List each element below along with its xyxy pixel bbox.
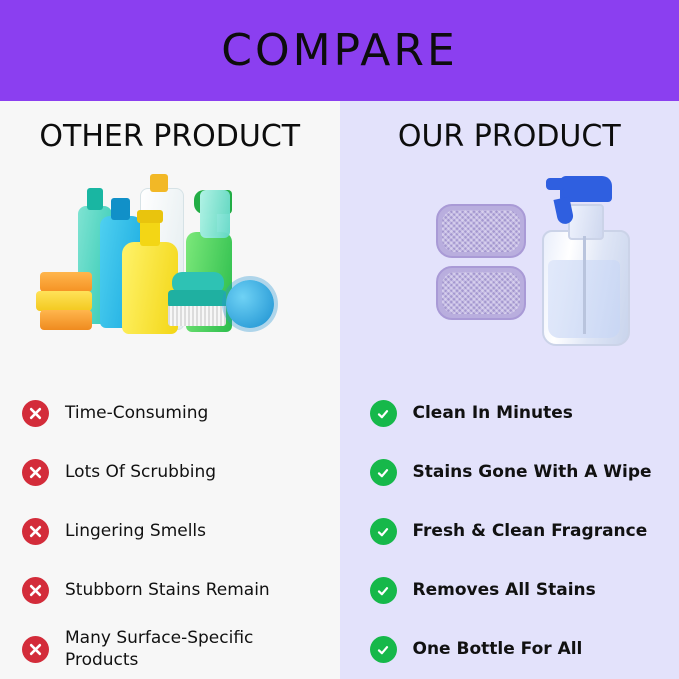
cleaning-pad-bottom [436,266,526,320]
spray-bottle-tube [583,236,586,334]
list-item: Clean In Minutes [370,384,679,443]
bottle-white-jug-cap [150,174,168,192]
bottle-blue-cap [111,198,130,220]
column-title-ours: OUR PRODUCT [340,119,679,154]
spray-bottle-nozzle [546,178,564,190]
column-other-product: OTHER PRODUCT [0,101,340,679]
list-item: Fresh & Clean Fragrance [370,502,679,561]
check-circle-icon [370,459,397,486]
check-circle-icon [370,577,397,604]
list-item: Removes All Stains [370,561,679,620]
x-circle-icon [22,518,49,545]
list-item-label: Clean In Minutes [413,403,573,424]
bottle-yellow-cap [137,210,163,223]
other-product-feature-list: Time-Consuming Lots Of Scrubbing Lingeri… [0,384,340,679]
cleaning-pad-top [436,204,526,258]
list-item: Stains Gone With A Wipe [370,443,679,502]
comparison-poster: COMPARE OTHER PRODUCT [0,0,679,679]
list-item-label: Fresh & Clean Fragrance [413,521,648,542]
comparison-columns: OTHER PRODUCT [0,101,679,679]
duster-ball [226,280,274,328]
list-item-label: Stubborn Stains Remain [65,580,270,601]
poster-header: COMPARE [0,0,679,101]
column-title-other: OTHER PRODUCT [0,119,340,154]
list-item-label: Removes All Stains [413,580,596,601]
list-item-label: Stains Gone With A Wipe [413,462,652,483]
our-product-image [340,154,679,384]
list-item: Lingering Smells [22,502,340,561]
our-product-feature-list: Clean In Minutes Stains Gone With A Wipe… [340,384,679,679]
page-title: COMPARE [221,25,458,76]
sponge-orange-top [40,272,92,292]
other-product-image [0,154,340,384]
check-circle-icon [370,518,397,545]
scrub-brush-bristles [168,306,226,326]
bottle-yellow-neck [140,220,160,246]
column-our-product: OUR PRODUCT [340,101,679,679]
list-item-label: Lingering Smells [65,521,206,542]
sponge-orange-bottom [40,310,92,330]
list-item: Many Surface-Specific Products [22,620,340,679]
list-item-label: Many Surface-Specific Products [65,628,328,671]
list-item-label: One Bottle For All [413,639,583,660]
sponge-yellow-middle [36,291,92,311]
list-item-label: Time-Consuming [65,403,208,424]
x-circle-icon [22,459,49,486]
list-item: One Bottle For All [370,620,679,679]
x-circle-icon [22,400,49,427]
list-item: Time-Consuming [22,384,340,443]
list-item: Lots Of Scrubbing [22,443,340,502]
check-circle-icon [370,400,397,427]
spray-bottle-neck [568,204,604,240]
cleaning-pad-top-texture [442,210,520,252]
list-item: Stubborn Stains Remain [22,561,340,620]
list-item-label: Lots Of Scrubbing [65,462,216,483]
check-circle-icon [370,636,397,663]
x-circle-icon [22,636,49,663]
cleaning-pad-bottom-texture [442,272,520,314]
bottle-teal-tall-cap [87,188,103,210]
bottle-teal-spray [200,190,230,238]
x-circle-icon [22,577,49,604]
